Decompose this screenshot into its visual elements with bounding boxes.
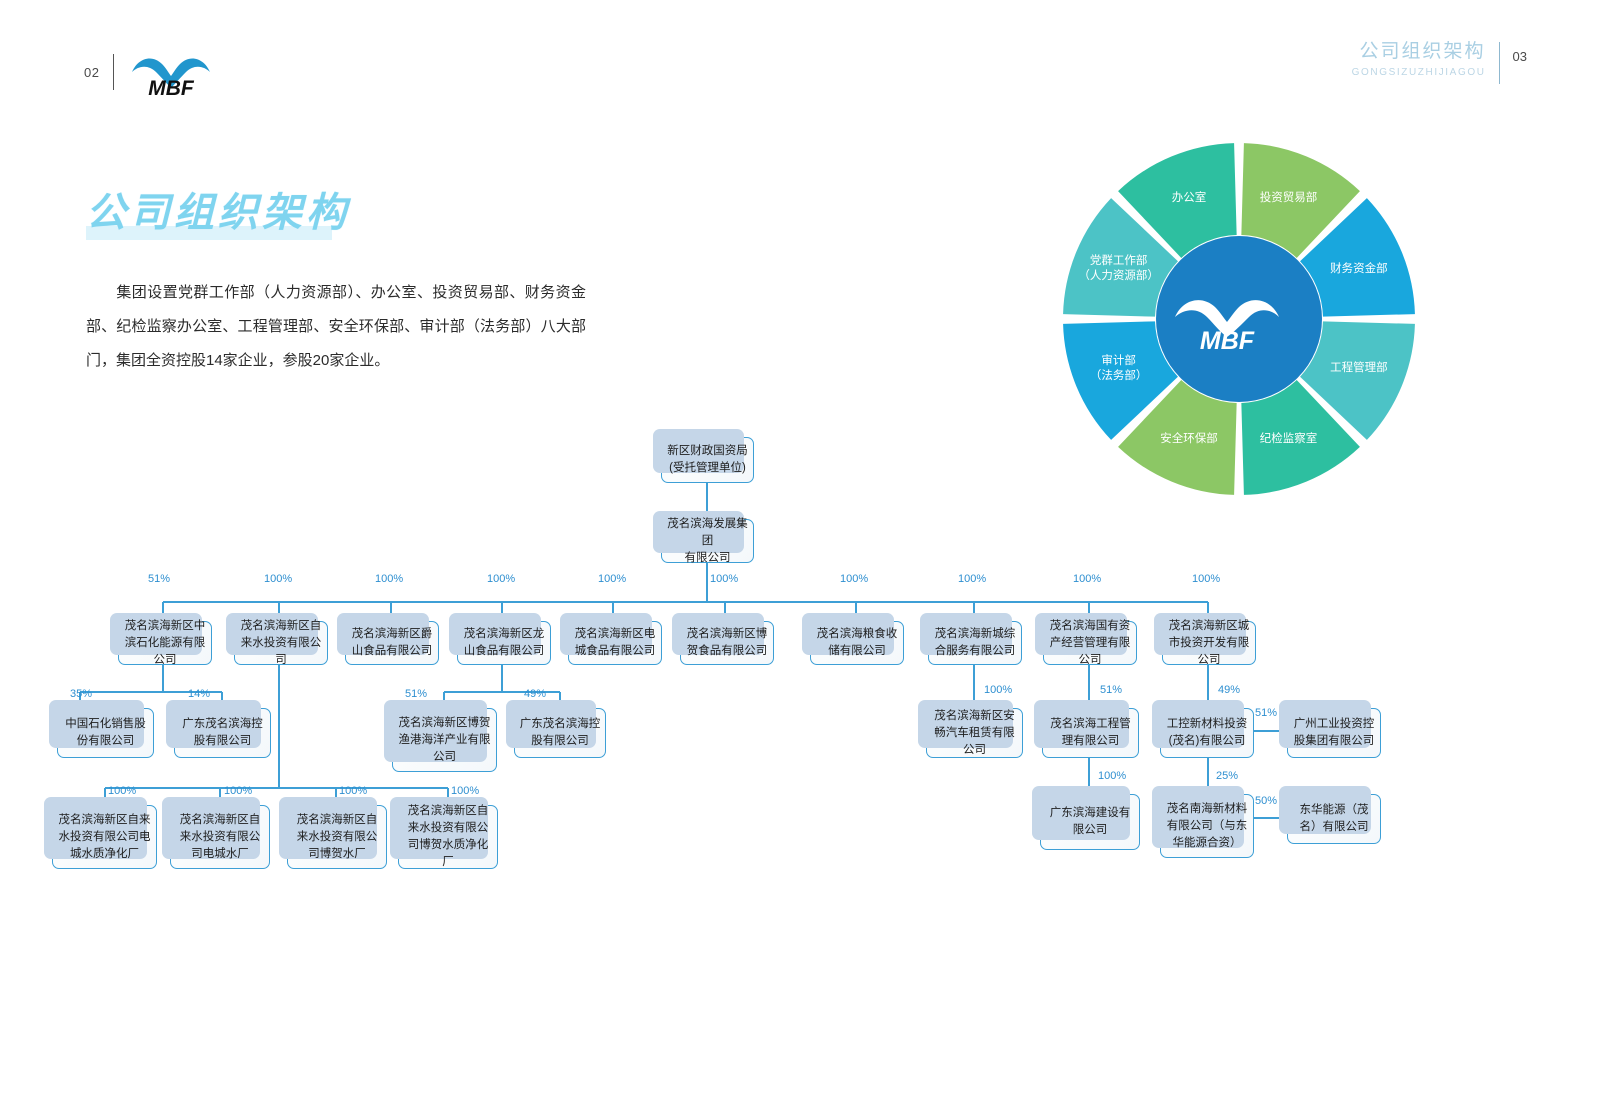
ownership-percentage: 49% xyxy=(1218,684,1240,696)
node-label: 茂名滨海新区自来水投资有限公司 xyxy=(239,618,323,669)
org-node-l3-6[interactable]: 东华能源（茂名）有限公司 xyxy=(1287,794,1381,844)
ownership-percentage: 51% xyxy=(1255,707,1277,719)
ownership-percentage: 100% xyxy=(1073,573,1101,585)
org-node-l2-2[interactable]: 茂名滨海新区博贺渔港海洋产业有限公司 xyxy=(392,708,497,772)
ownership-percentage: 49% xyxy=(524,688,546,700)
ownership-percentage: 51% xyxy=(148,573,170,585)
org-node-l3-4[interactable]: 广东滨海建设有限公司 xyxy=(1040,794,1140,850)
org-chart-connectors xyxy=(0,0,1611,1101)
org-node-l2-1[interactable]: 广东茂名滨海控股有限公司 xyxy=(174,708,271,758)
node-label: 茂名滨海新区自来水投资有限公司电城水质净化厂 xyxy=(57,812,152,863)
node-label: 东华能源（茂名）有限公司 xyxy=(1292,802,1376,836)
org-node-regulator[interactable]: 新区财政国资局(受托管理单位) xyxy=(661,437,754,483)
ownership-percentage: 100% xyxy=(487,573,515,585)
node-label: 茂名滨海新区自来水投资有限公司博贺水厂 xyxy=(292,812,382,863)
ownership-percentage: 100% xyxy=(598,573,626,585)
org-node-l1-7[interactable]: 茂名滨海新城综合服务有限公司 xyxy=(928,621,1022,665)
ownership-percentage: 100% xyxy=(108,785,136,797)
ownership-percentage: 50% xyxy=(1255,795,1277,807)
ownership-percentage: 100% xyxy=(1192,573,1220,585)
org-node-l2-4[interactable]: 茂名滨海新区安畅汽车租赁有限公司 xyxy=(926,708,1023,758)
org-node-l2-7[interactable]: 广州工业投资控股集团有限公司 xyxy=(1287,708,1381,758)
node-label: 广东茂名滨海控股有限公司 xyxy=(519,716,601,750)
org-node-l2-0[interactable]: 中国石化销售股份有限公司 xyxy=(57,708,154,758)
ownership-percentage: 100% xyxy=(339,785,367,797)
org-node-l1-8[interactable]: 茂名滨海国有资产经营管理有限公司 xyxy=(1043,621,1137,665)
node-label: 茂名滨海新城综合服务有限公司 xyxy=(933,626,1017,660)
org-node-group[interactable]: 茂名滨海发展集团有限公司 xyxy=(661,519,754,563)
ownership-percentage: 25% xyxy=(1216,770,1238,782)
org-node-l1-6[interactable]: 茂名滨海粮食收储有限公司 xyxy=(810,621,904,665)
org-node-l1-4[interactable]: 茂名滨海新区电城食品有限公司 xyxy=(568,621,662,665)
ownership-percentage: 51% xyxy=(1100,684,1122,696)
org-node-l1-0[interactable]: 茂名滨海新区中滨石化能源有限公司 xyxy=(118,621,212,665)
org-node-l3-1[interactable]: 茂名滨海新区自来水投资有限公司电城水厂 xyxy=(170,805,270,869)
node-label: 茂名滨海新区博贺渔港海洋产业有限公司 xyxy=(397,715,492,766)
ownership-percentage: 100% xyxy=(840,573,868,585)
node-label: 茂名滨海发展集团有限公司 xyxy=(666,516,749,567)
org-chart: 新区财政国资局(受托管理单位)茂名滨海发展集团有限公司茂名滨海新区中滨石化能源有… xyxy=(0,0,1611,1101)
node-label: 茂名滨海新区爵山食品有限公司 xyxy=(350,626,434,660)
org-node-l3-0[interactable]: 茂名滨海新区自来水投资有限公司电城水质净化厂 xyxy=(52,805,157,869)
node-label: 茂名滨海国有资产经营管理有限公司 xyxy=(1048,618,1132,669)
org-node-l1-9[interactable]: 茂名滨海新区城市投资开发有限公司 xyxy=(1162,621,1256,665)
ownership-percentage: 14% xyxy=(188,688,210,700)
node-label: 茂名南海新材料有限公司（与东华能源合资） xyxy=(1165,801,1249,852)
org-node-l2-6[interactable]: 工控新材料投资(茂名)有限公司 xyxy=(1160,708,1254,758)
node-label: 茂名滨海新区城市投资开发有限公司 xyxy=(1167,618,1251,669)
ownership-percentage: 35% xyxy=(70,688,92,700)
org-node-l2-5[interactable]: 茂名滨海工程管理有限公司 xyxy=(1042,708,1139,758)
node-label: 茂名滨海新区博贺食品有限公司 xyxy=(685,626,769,660)
ownership-percentage: 100% xyxy=(710,573,738,585)
node-label: 新区财政国资局(受托管理单位) xyxy=(667,443,748,477)
org-node-l3-2[interactable]: 茂名滨海新区自来水投资有限公司博贺水厂 xyxy=(287,805,387,869)
ownership-percentage: 100% xyxy=(264,573,292,585)
ownership-percentage: 100% xyxy=(984,684,1012,696)
node-label: 广东滨海建设有限公司 xyxy=(1045,805,1135,839)
page-root: 02 MBF 公司组织架构 GONGSIZUZHIJIAGOU 03 公司组织架… xyxy=(0,0,1611,1101)
ownership-percentage: 100% xyxy=(1098,770,1126,782)
org-node-l3-3[interactable]: 茂名滨海新区自来水投资有限公司博贺水质净化厂 xyxy=(398,805,498,869)
node-label: 茂名滨海新区自来水投资有限公司博贺水质净化厂 xyxy=(403,803,493,871)
node-label: 茂名滨海新区自来水投资有限公司电城水厂 xyxy=(175,812,265,863)
node-label: 广州工业投资控股集团有限公司 xyxy=(1292,716,1376,750)
ownership-percentage: 100% xyxy=(224,785,252,797)
node-label: 茂名滨海粮食收储有限公司 xyxy=(815,626,899,660)
node-label: 茂名滨海新区电城食品有限公司 xyxy=(573,626,657,660)
org-node-l1-3[interactable]: 茂名滨海新区龙山食品有限公司 xyxy=(457,621,551,665)
org-node-l1-2[interactable]: 茂名滨海新区爵山食品有限公司 xyxy=(345,621,439,665)
org-node-l2-3[interactable]: 广东茂名滨海控股有限公司 xyxy=(514,708,606,758)
org-node-l1-5[interactable]: 茂名滨海新区博贺食品有限公司 xyxy=(680,621,774,665)
node-label: 茂名滨海新区中滨石化能源有限公司 xyxy=(123,618,207,669)
org-node-l3-5[interactable]: 茂名南海新材料有限公司（与东华能源合资） xyxy=(1160,794,1254,858)
ownership-percentage: 51% xyxy=(405,688,427,700)
ownership-percentage: 100% xyxy=(958,573,986,585)
org-node-l1-1[interactable]: 茂名滨海新区自来水投资有限公司 xyxy=(234,621,328,665)
node-label: 茂名滨海工程管理有限公司 xyxy=(1047,716,1134,750)
node-label: 茂名滨海新区龙山食品有限公司 xyxy=(462,626,546,660)
node-label: 茂名滨海新区安畅汽车租赁有限公司 xyxy=(931,708,1018,759)
node-label: 工控新材料投资(茂名)有限公司 xyxy=(1165,716,1249,750)
node-label: 中国石化销售股份有限公司 xyxy=(62,716,149,750)
node-label: 广东茂名滨海控股有限公司 xyxy=(179,716,266,750)
ownership-percentage: 100% xyxy=(451,785,479,797)
ownership-percentage: 100% xyxy=(375,573,403,585)
